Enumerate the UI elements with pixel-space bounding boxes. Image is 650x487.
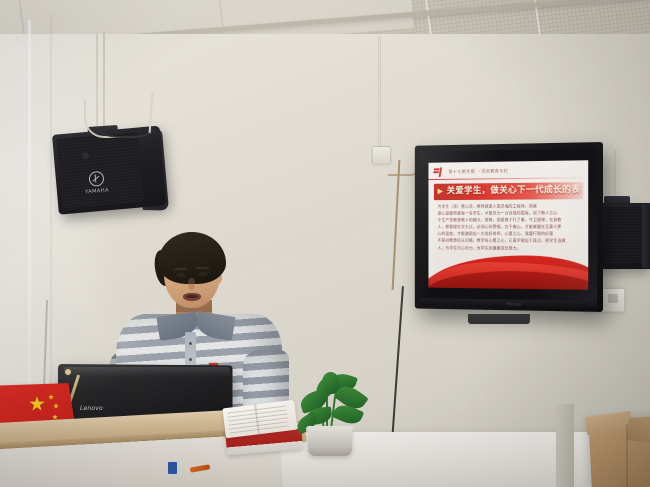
box-seam	[626, 424, 628, 487]
slide-body-text: 为学生（孩）营心灵，教师就是人类灵魂的工程师，用真 爱心温暖热爱每一名学生，才能…	[438, 202, 581, 260]
blue-binder-clip	[168, 462, 177, 474]
monitor-cable	[96, 108, 156, 138]
person-eye	[198, 272, 208, 276]
speaker-grille	[604, 207, 646, 263]
photo-scene: YAMAHA 第十七期专题 ・党员教育专栏 关爱学生，做关心下一代成长的表率。 …	[0, 0, 650, 487]
slide-header: 第十七期专题 ・党员教育专栏	[449, 166, 562, 177]
speaker-brand-text: YAMAHA	[85, 187, 109, 195]
presentation-slide: 第十七期专题 ・党员教育专栏 关爱学生，做关心下一代成长的表率。 为学生（孩）营…	[428, 160, 588, 290]
shirt-button	[189, 342, 192, 345]
slide-body-line: 不是对教育的认识感，教学有心要之心，让真学做出于耳边，把学生当做	[438, 237, 581, 244]
yamaha-logo: YAMAHA	[77, 170, 115, 195]
yamaha-tuning-fork-icon	[88, 171, 104, 187]
person-hair	[158, 232, 226, 284]
left-wall-speaker: YAMAHA	[52, 126, 167, 223]
party-emblem-icon	[433, 166, 444, 178]
wall-mounted-tv[interactable]: 第十七期专题 ・党员教育专栏 关爱学生，做关心下一代成长的表率。 为学生（孩）营…	[415, 142, 603, 317]
person-nose	[188, 278, 195, 290]
bullet-arrow-icon	[438, 189, 443, 195]
outlet-socket[interactable]	[608, 294, 618, 303]
speaker-side-panel	[642, 204, 650, 268]
tv-brand-label: Hisense	[500, 300, 528, 307]
plant-pot	[308, 428, 352, 456]
wall-conduit	[378, 36, 381, 158]
box-flap	[627, 418, 650, 443]
monitor-top-highlight	[64, 367, 230, 377]
slide-body-line: 人，为学生尽心尽力，为学生的健康成长努力。	[438, 244, 581, 252]
shirt-button	[189, 358, 192, 361]
slide-header-rule	[428, 177, 588, 180]
tv-wall-mount	[468, 314, 530, 324]
person-eye	[176, 273, 186, 277]
slide-body-line: 人，教管理在学大过，必须心存警惕，在于做心，才能掌握在至意义更	[438, 223, 581, 230]
person-mouth-interior	[186, 295, 198, 298]
flag-pole-finial	[65, 369, 71, 375]
tv-screen[interactable]: 第十七期专题 ・党员教育专栏 关爱学生，做关心下一代成长的表率。 为学生（孩）营…	[420, 148, 597, 301]
wall-panel-right	[556, 404, 574, 487]
slide-title: 关爱学生，做关心下一代成长的表率。	[447, 183, 582, 199]
lenovo-logo: Lenovo	[80, 404, 122, 413]
potted-plant	[284, 372, 374, 458]
